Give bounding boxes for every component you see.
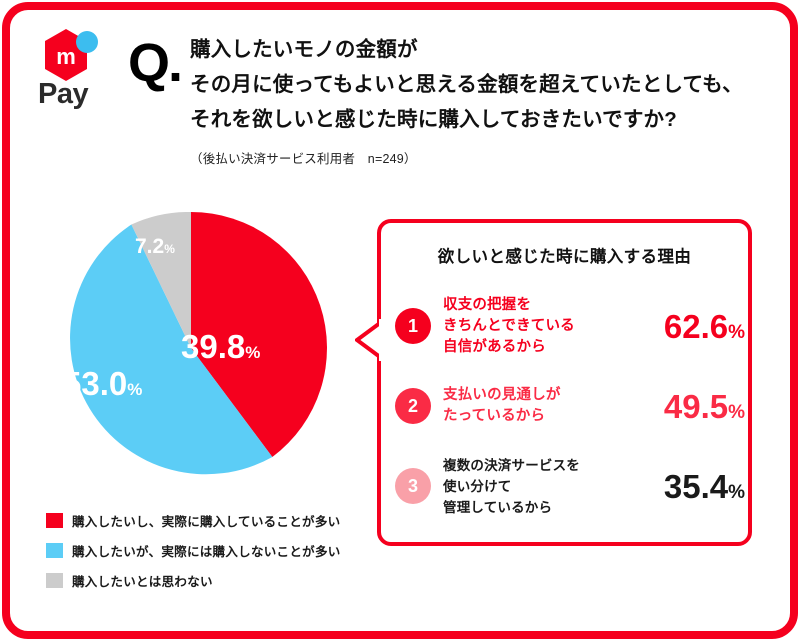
reason-row: 3 複数の決済サービスを 使い分けて 管理しているから 35.4% <box>395 445 745 527</box>
reason-value: 49.5% <box>619 390 745 423</box>
question-line-1: 購入したいモノの金額が <box>190 32 770 67</box>
pie-label-gray-unit: % <box>164 242 175 256</box>
rank-number: 1 <box>408 317 418 335</box>
reasons-panel: 欲しいと感じた時に購入する理由 1 収支の把握を きちんとできている 自信がある… <box>377 219 752 546</box>
legend-item: 購入したいとは思わない <box>46 565 376 595</box>
reason-value-number: 49.5 <box>664 388 728 425</box>
pie-label-gray: 7.2% <box>135 236 175 257</box>
svg-text:m: m <box>56 44 76 69</box>
reason-value-number: 35.4 <box>664 468 728 505</box>
rank-badge-1: 1 <box>395 308 431 344</box>
pie-label-blue-value: 53.0 <box>63 365 127 402</box>
sample-size-note: （後払い決済サービス利用者 n=249） <box>190 148 417 167</box>
legend-label: 購入したいし、実際に購入していることが多い <box>72 511 340 530</box>
logo-wordmark: Pay <box>38 80 88 109</box>
pie-label-blue: 53.0% <box>63 367 142 400</box>
rank-badge-3: 3 <box>395 468 431 504</box>
reason-value-unit: % <box>728 482 745 503</box>
reason-row: 2 支払いの見通しが たっているから 49.5% <box>395 373 745 439</box>
callout-arrow-icon <box>355 319 385 361</box>
pie-label-red-unit: % <box>245 343 260 362</box>
reason-value-unit: % <box>728 322 745 343</box>
reason-label: 複数の決済サービスを 使い分けて 管理しているから <box>443 455 619 518</box>
pie-label-gray-value: 7.2 <box>135 235 164 258</box>
legend-swatch-gray <box>46 573 63 588</box>
reason-label-line: 使い分けて <box>443 476 619 497</box>
reason-label-line: 自信があるから <box>443 337 619 358</box>
reason-value-number: 62.6 <box>664 308 728 345</box>
legend-swatch-blue <box>46 543 63 558</box>
question-line-3: それを欲しいと感じた時に購入しておきたいですか? <box>190 102 770 137</box>
pie-label-red: 39.8% <box>181 330 260 363</box>
reason-label: 収支の把握を きちんとできている 自信があるから <box>443 295 619 358</box>
header: m Pay Q. 購入したいモノの金額が その月に使ってもよいと思える金額を超え… <box>0 0 800 185</box>
reason-label-line: たっているから <box>443 406 619 427</box>
reason-label-line: 支払いの見通しが <box>443 385 619 406</box>
reason-label: 支払いの見通しが たっているから <box>443 385 619 427</box>
reason-value: 62.6% <box>619 310 745 343</box>
panel-title: 欲しいと感じた時に購入する理由 <box>381 243 748 267</box>
rank-number: 3 <box>408 477 418 495</box>
legend-label: 購入したいが、実際には購入しないことが多い <box>72 541 341 560</box>
reason-label-line: きちんとできている <box>443 316 619 337</box>
rank-number: 2 <box>408 397 418 415</box>
question-line-2: その月に使ってもよいと思える金額を超えていたとしても、 <box>190 67 770 102</box>
reason-row: 1 収支の把握を きちんとできている 自信があるから 62.6% <box>395 283 745 369</box>
legend-item: 購入したいが、実際には購入しないことが多い <box>46 535 376 565</box>
rank-badge-2: 2 <box>395 388 431 424</box>
reason-label-line: 管理しているから <box>443 497 619 518</box>
legend-item: 購入したいし、実際に購入していることが多い <box>46 505 376 535</box>
question-text: 購入したいモノの金額が その月に使ってもよいと思える金額を超えていたとしても、 … <box>190 32 770 137</box>
legend-swatch-red <box>46 513 63 528</box>
pie-chart: 39.8% 53.0% 7.2% <box>55 212 327 484</box>
pie-label-blue-unit: % <box>127 380 142 399</box>
chart-legend: 購入したいし、実際に購入していることが多い 購入したいが、実際には購入しないこと… <box>46 505 376 595</box>
mercari-pay-logo: m Pay <box>38 28 118 110</box>
logo-blue-dot <box>76 31 98 53</box>
infographic-root: m Pay Q. 購入したいモノの金額が その月に使ってもよいと思える金額を超え… <box>0 0 800 641</box>
question-marker: Q. <box>128 36 181 90</box>
reason-value-unit: % <box>728 402 745 423</box>
reason-label-line: 収支の把握を <box>443 295 619 316</box>
pie-label-red-value: 39.8 <box>181 328 245 365</box>
legend-label: 購入したいとは思わない <box>72 571 213 590</box>
reason-value: 35.4% <box>619 470 745 503</box>
reason-label-line: 複数の決済サービスを <box>443 455 619 476</box>
